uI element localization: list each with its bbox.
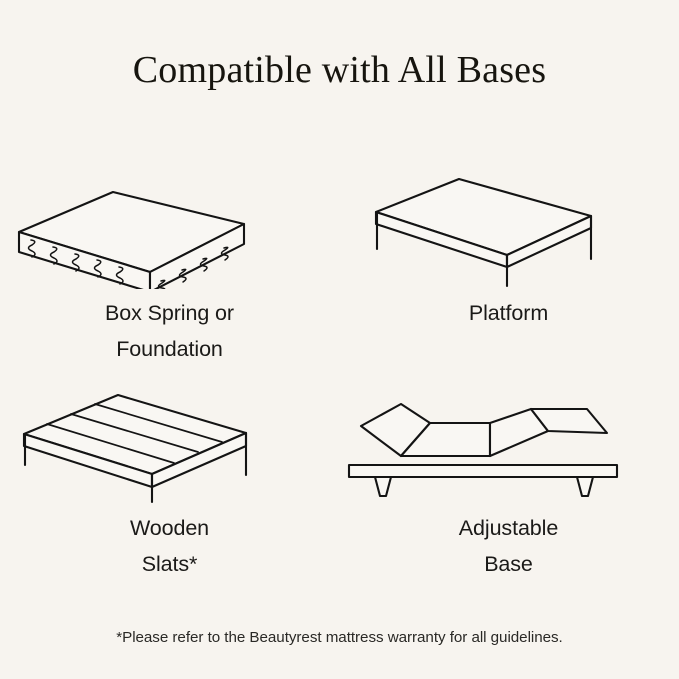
warranty-footnote: *Please refer to the Beautyrest mattress… bbox=[0, 629, 679, 646]
adjustable-base-icon bbox=[339, 379, 678, 504]
platform-base-icon bbox=[339, 164, 678, 289]
base-item-wooden-slats: Wooden Slats* bbox=[0, 365, 339, 595]
base-label-line2: Slats* bbox=[0, 546, 339, 582]
base-label-line1: Platform bbox=[469, 301, 548, 325]
base-label-line1: Adjustable bbox=[459, 516, 558, 540]
base-label-box-spring: Box Spring or Foundation bbox=[0, 295, 339, 367]
base-label-line2: Base bbox=[339, 546, 678, 582]
base-label-line2: Foundation bbox=[0, 331, 339, 367]
wooden-slats-icon bbox=[0, 379, 339, 504]
base-item-platform: Platform bbox=[339, 150, 678, 380]
box-spring-foundation-icon bbox=[0, 164, 339, 289]
page-title: Compatible with All Bases bbox=[0, 48, 679, 92]
bases-grid: Box Spring or Foundation bbox=[0, 150, 679, 610]
base-label-wooden-slats: Wooden Slats* bbox=[0, 510, 339, 582]
compatible-bases-graphic: Compatible with All Bases bbox=[0, 0, 679, 679]
base-item-box-spring: Box Spring or Foundation bbox=[0, 150, 339, 380]
base-label-platform: Platform bbox=[339, 295, 678, 331]
base-label-line1: Box Spring or bbox=[105, 301, 234, 325]
base-label-adjustable: Adjustable Base bbox=[339, 510, 678, 582]
base-label-line1: Wooden bbox=[130, 516, 209, 540]
base-item-adjustable: Adjustable Base bbox=[339, 365, 678, 595]
